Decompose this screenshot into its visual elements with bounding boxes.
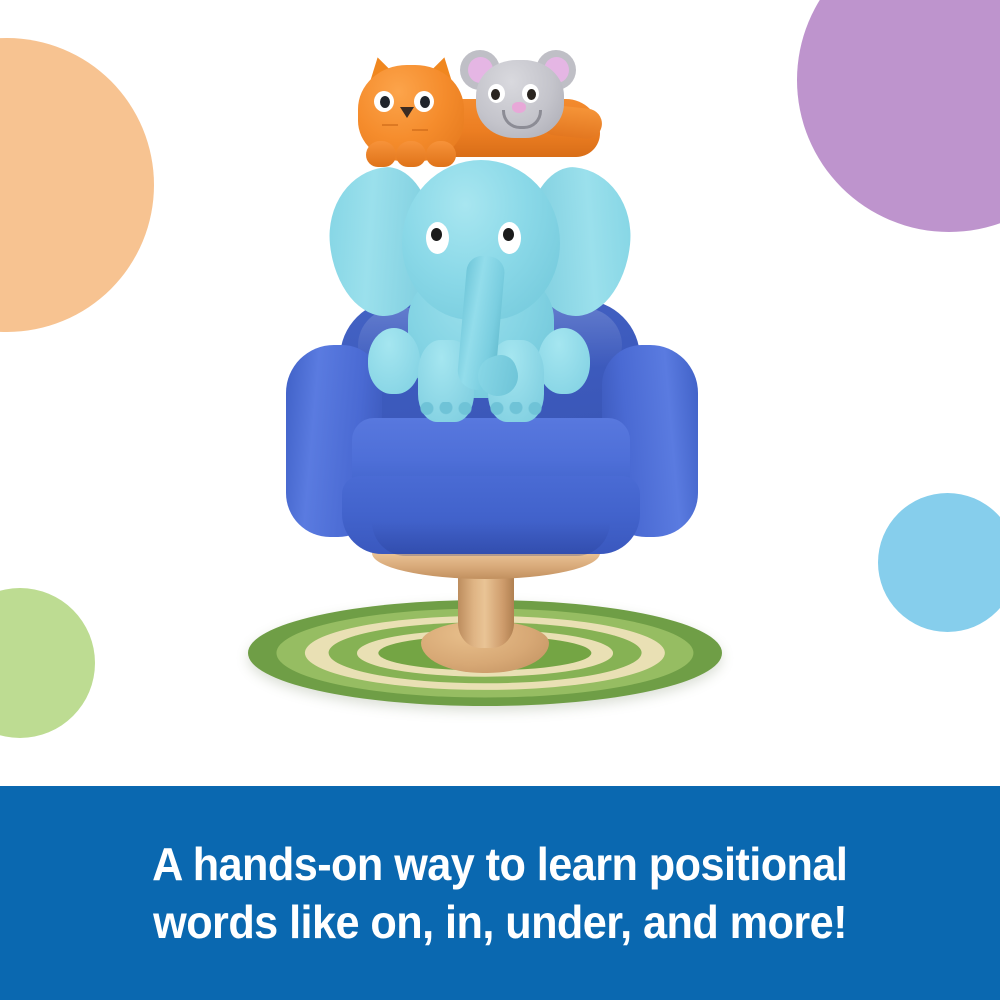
gray-mouse-figure [460, 48, 580, 148]
armchair-base-shadow [372, 522, 610, 556]
elephant-pupil-right [503, 228, 514, 241]
mouse-pupil-right [527, 89, 536, 100]
mouse-pupil-left [491, 89, 500, 100]
elephant-toes-right [488, 402, 544, 418]
cat-paw-left [366, 141, 396, 167]
cat-whiskers [382, 121, 430, 133]
elephant-arm-left [368, 328, 420, 394]
product-marketing-image: A hands-on way to learn positional words… [0, 0, 1000, 1000]
elephant-toes-left [418, 402, 474, 418]
cat-paw-right [426, 141, 456, 167]
elephant-pupil-left [431, 228, 442, 241]
cat-pupil-right [420, 96, 430, 108]
product-photo [0, 0, 1000, 786]
caption-banner: A hands-on way to learn positional words… [0, 786, 1000, 1000]
cat-paw-mid [396, 141, 426, 167]
cat-nose [400, 107, 414, 118]
elephant-arm-right [538, 328, 590, 394]
caption-line-1: A hands-on way to learn positional [152, 835, 847, 893]
blue-elephant-figure [330, 160, 630, 450]
cat-pupil-left [380, 96, 390, 108]
caption-line-2: words like on, in, under, and more! [153, 893, 847, 951]
